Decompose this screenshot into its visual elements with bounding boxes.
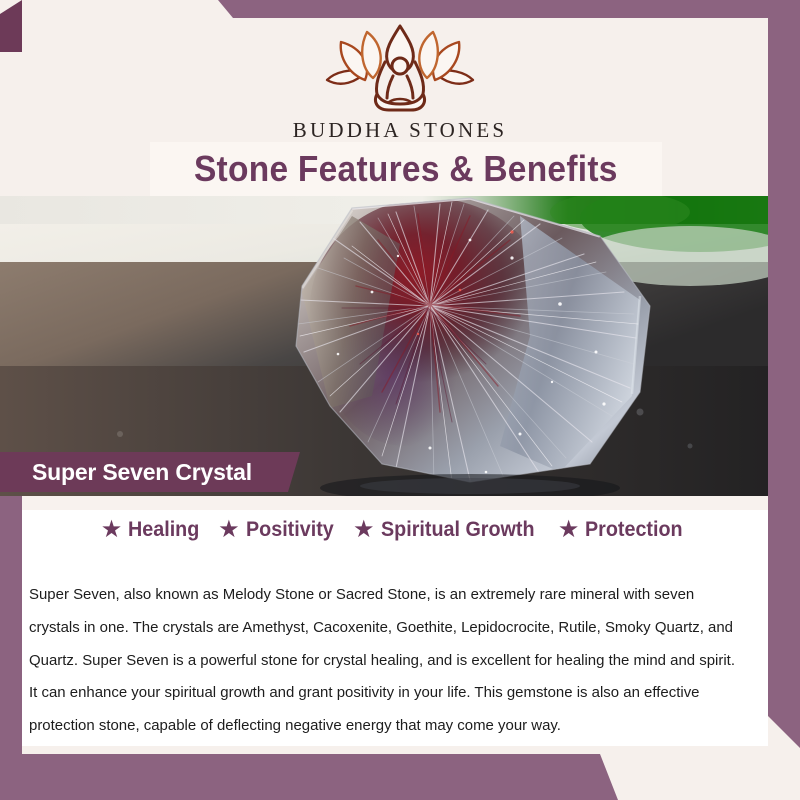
title-plate: Stone Features & Benefits — [150, 142, 662, 196]
benefit-item-spiritual-growth: ★ Spiritual Growth — [353, 518, 544, 542]
star-icon: ★ — [218, 518, 240, 542]
brand-logo: BUDDHA STONES — [0, 22, 800, 143]
poster-root: BUDDHA STONES Stone Features & Benefits — [0, 0, 800, 800]
benefit-label: Spiritual Growth — [381, 518, 535, 542]
benefit-item-positivity: ★ Positivity — [218, 518, 339, 542]
benefit-item-healing: ★ Healing — [101, 518, 204, 542]
star-icon: ★ — [353, 518, 375, 542]
lotus-meditation-icon — [315, 22, 485, 114]
content-panel: ★ Healing ★ Positivity ★ Spiritual Growt… — [22, 496, 768, 746]
poster-header: BUDDHA STONES Stone Features & Benefits — [0, 0, 800, 196]
benefit-label: Positivity — [246, 518, 334, 542]
benefit-label: Healing — [128, 518, 199, 542]
photo-caption-label: Super Seven Crystal — [0, 459, 252, 486]
hero-photo — [0, 196, 768, 496]
description-paragraph: Super Seven, also known as Melody Stone … — [29, 579, 744, 742]
star-icon: ★ — [558, 518, 580, 542]
benefits-row: ★ Healing ★ Positivity ★ Spiritual Growt… — [22, 518, 768, 542]
frame-band-left — [0, 485, 22, 800]
benefit-item-protection: ★ Protection — [558, 518, 689, 542]
brand-name: BUDDHA STONES — [0, 118, 800, 143]
frame-band-bottom — [0, 754, 618, 800]
panel-top-tint — [22, 496, 768, 510]
page-title: Stone Features & Benefits — [194, 148, 618, 190]
super-seven-crystal-photo — [0, 196, 768, 496]
benefit-label: Protection — [585, 518, 683, 542]
photo-caption-banner: Super Seven Crystal — [0, 452, 300, 492]
star-icon: ★ — [101, 518, 123, 542]
